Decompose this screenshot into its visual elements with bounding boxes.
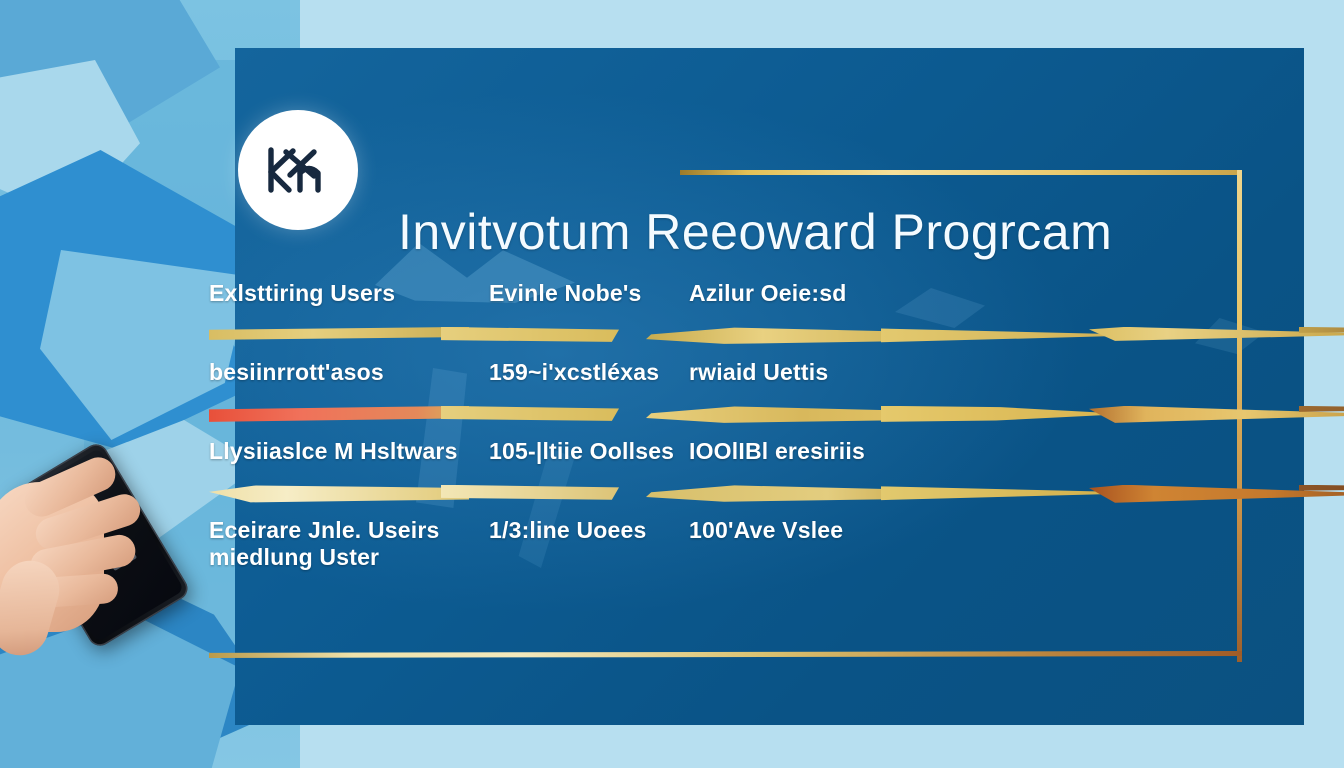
row-3-cell-1: Eceirare Jnle. Useirs miedlung Uster	[209, 517, 489, 571]
row-2-cell-2: 105-|ltiie Oollses	[489, 438, 689, 465]
row-divider-3	[209, 479, 1249, 505]
table-row: besiinrrott'asos 159~i'xcstléxas rwiaid …	[209, 359, 1249, 386]
table-header-row: Exlsttiring Users Evinle Nobe's Azilur O…	[209, 280, 1249, 307]
divider-segment	[881, 406, 1111, 422]
divider-segment	[209, 406, 469, 422]
row-2-cell-1: Llysiiaslce M Hsltwars	[209, 438, 489, 465]
divider-segment	[1299, 485, 1344, 491]
table-row: Eceirare Jnle. Useirs miedlung Uster 1/3…	[209, 517, 1249, 571]
column-header-existing-users: Exlsttiring Users	[209, 280, 489, 307]
divider-segment	[209, 327, 469, 340]
km-monogram-logo-icon	[262, 142, 334, 198]
row-divider-2	[209, 400, 1249, 426]
divider-segment	[881, 327, 1111, 343]
banner-canvas: Invitvotum Reeoward Progrcam Exlsttiring…	[0, 0, 1344, 768]
column-header-invite-nodes: Evinle Nobe's	[489, 280, 689, 307]
reward-tier-table: Exlsttiring Users Evinle Nobe's Azilur O…	[209, 280, 1249, 571]
divider-segment	[441, 327, 619, 342]
column-header-reward: Azilur Oeie:sd	[689, 280, 989, 307]
table-row: Llysiiaslce M Hsltwars 105-|ltiie Oollse…	[209, 438, 1249, 465]
divider-segment	[646, 406, 906, 423]
row-divider-1	[209, 321, 1249, 347]
divider-segment	[1299, 327, 1344, 333]
hand-holding-phone	[0, 448, 216, 678]
gold-frame-top-edge	[680, 170, 1242, 175]
brand-logo[interactable]	[238, 110, 358, 230]
row-1-cell-2: 159~i'xcstléxas	[489, 359, 689, 386]
divider-segment	[209, 485, 469, 503]
divider-segment	[441, 406, 619, 421]
row-1-cell-3: rwiaid Uettis	[689, 359, 989, 386]
divider-segment	[1299, 406, 1344, 412]
row-3-cell-3: 100'Ave Vslee	[689, 517, 989, 544]
page-title: Invitvotum Reeoward Progrcam	[398, 206, 1118, 259]
row-3-cell-2: 1/3:line Uoees	[489, 517, 689, 544]
row-2-cell-3: IOOlIBl eresiriis	[689, 438, 989, 465]
row-1-cell-1: besiinrrott'asos	[209, 359, 489, 386]
divider-segment	[646, 485, 906, 502]
divider-segment	[646, 327, 906, 344]
divider-segment	[441, 485, 619, 500]
divider-segment	[881, 485, 1111, 501]
